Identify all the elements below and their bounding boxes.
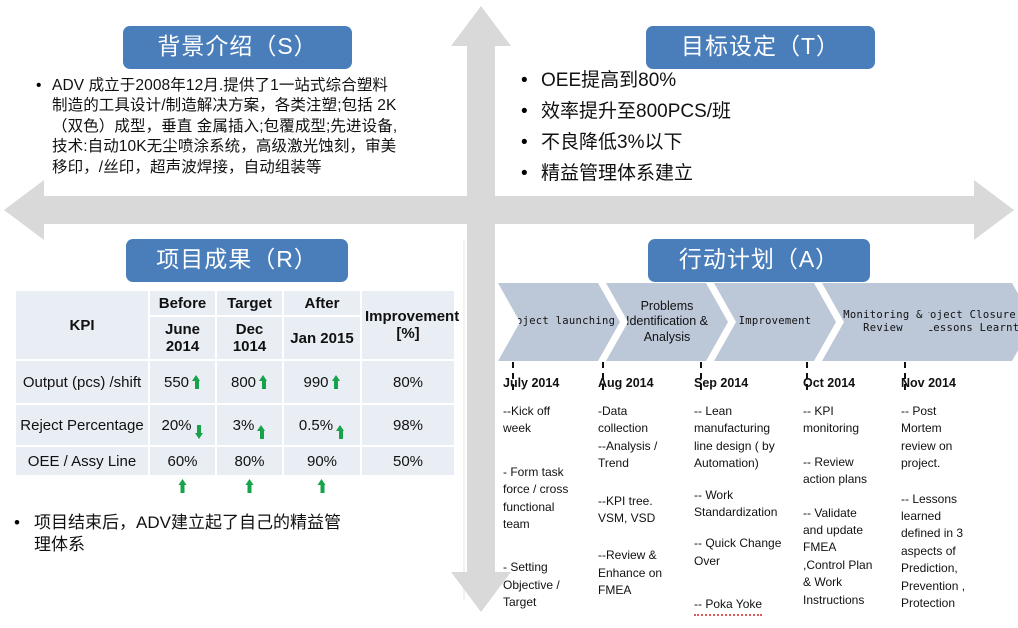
cell-value: 800 [231,374,256,391]
cell-reject-after: 0.5% [283,404,361,446]
str-slide-canvas: 背景介绍（S） • ADV 成立于2008年12月.提供了1一站式综合塑料 制造… [0,0,1018,618]
timeline-date-oct: Oct 2014 [803,376,855,390]
cell-oee-after: 90% [283,446,361,476]
row-label-reject: Reject Percentage [15,404,149,446]
up-arrow-icon [259,375,268,389]
chevron-label: Improvement [735,315,816,328]
timeline-item: -- Lean manufacturing line design ( by A… [694,403,798,473]
table-header-target: Target [216,290,283,316]
badge-action: 行动计划（A） [648,239,870,282]
cell-reject-improvement: 98% [361,404,455,446]
timeline-item: --KPI tree. VSM, VSD [598,493,690,528]
up-arrow-icon [245,479,254,493]
timeline-item: -- Review action plans [803,454,899,489]
timeline-item: -Data collection --Analysis / Trend [598,403,690,473]
timeline-column-oct: -- KPI monitoring -- Review action plans… [803,403,899,621]
cell-oee-improvement: 50% [361,446,455,476]
timeline-date-aug: Aug 2014 [598,376,654,390]
timeline-column-july: --Kick off week - Form task force / cros… [503,403,595,624]
timeline-item: -- Validate and update FMEA ,Control Pla… [803,505,899,609]
table-header-row-top: KPI Before Target After Improvement [%] [15,290,455,316]
list-item: • ADV 成立于2008年12月.提供了1一站式综合塑料 制造的工具设计/制造… [36,76,448,178]
row-label-oee: OEE / Assy Line [15,446,149,476]
target-bullet-list: • OEE提高到80% • 效率提升至800PCS/班 • 不良降低3%以下 •… [521,68,941,192]
list-item: • 不良降低3%以下 [521,130,941,155]
table-row: Reject Percentage 20% 3% 0.5% 98% [15,404,455,446]
target-bullet-text-3: 精益管理体系建立 [541,161,941,186]
cell-value: 3% [233,417,255,434]
cell-reject-before: 20% [149,404,216,446]
result-note-list: • 项目结束后，ADV建立起了自己的精益管 理体系 [14,512,434,557]
target-bullet-text-0: OEE提高到80% [541,68,941,93]
up-arrow-icon [336,425,345,439]
timeline-item: --Kick off week [503,403,595,438]
timeline-item: --Review & Enhance on FMEA [598,547,690,599]
timeline-date-july: July 2014 [503,376,559,390]
target-bullet-text-1: 效率提升至800PCS/班 [541,99,941,124]
process-chevron-group: Project launching Problems Identificatio… [498,283,1014,361]
bullet-marker: • [521,130,541,155]
timeline-item: -- Lessons learned defined in 3 aspects … [901,491,1001,613]
kpi-results-table: KPI Before Target After Improvement [%] … [14,289,456,477]
timeline-item: - Setting Objective / Target [503,559,595,611]
table-header-before: Before [149,290,216,316]
target-bullet-text-2: 不良降低3%以下 [541,130,941,155]
cell-output-improvement: 80% [361,360,455,404]
table-row: Output (pcs) /shift 550 800 990 80% [15,360,455,404]
list-item: • 项目结束后，ADV建立起了自己的精益管 理体系 [14,512,434,557]
table-header-after: After [283,290,361,316]
badge-situation: 背景介绍（S） [123,26,352,69]
timeline-item: -- Poka Yoke [694,596,762,615]
chevron-phase-3: Improvement [714,283,836,361]
chevron-label: Project launching [499,315,620,328]
list-item: • 精益管理体系建立 [521,161,941,186]
table-subheader-target-date: Dec 1014 [216,316,283,360]
bullet-marker: • [36,76,52,96]
result-note-text: 项目结束后，ADV建立起了自己的精益管 理体系 [34,512,434,557]
cell-output-before: 550 [149,360,216,404]
down-arrow-icon [195,425,204,439]
up-arrow-icon [178,479,187,493]
situation-bullet-list: • ADV 成立于2008年12月.提供了1一站式综合塑料 制造的工具设计/制造… [36,76,448,178]
cell-value: 990 [303,374,328,391]
table-header-improvement: Improvement [%] [361,290,455,360]
bullet-marker: • [521,99,541,124]
cell-reject-target: 3% [216,404,283,446]
table-header-kpi: KPI [15,290,149,360]
badge-target: 目标设定（T） [646,26,875,69]
cell-value: 0.5% [299,417,333,434]
timeline-date-sep: Sep 2014 [694,376,748,390]
up-arrow-icon [332,375,341,389]
bullet-marker: • [521,161,541,186]
cell-oee-target: 80% [216,446,283,476]
timeline-column-aug: -Data collection --Analysis / Trend --KP… [598,403,690,612]
chevron-phase-1: Project launching [498,283,620,361]
chevron-label: Problems Identification & Analysis [606,299,728,346]
chevron-phase-2: Problems Identification & Analysis [606,283,728,361]
cell-value: 20% [161,417,191,434]
list-item: • OEE提高到80% [521,68,941,93]
cell-value: 90% [307,453,337,470]
list-item: • 效率提升至800PCS/班 [521,99,941,124]
table-subheader-after-date: Jan 2015 [283,316,361,360]
up-arrow-icon [192,375,201,389]
bullet-marker: • [14,512,34,534]
badge-result: 项目成果（R） [126,239,348,282]
timeline-item: -- KPI monitoring [803,403,899,438]
timeline-column-nov: -- Post Mortem review on project. -- Les… [901,403,1001,624]
cell-value: 550 [164,374,189,391]
bullet-marker: • [521,68,541,93]
timeline-item: -- Work Standardization [694,487,798,522]
cell-output-after: 990 [283,360,361,404]
table-subheader-before-date: June 2014 [149,316,216,360]
timeline-item: -- Quick Change Over [694,535,798,570]
up-arrow-icon [257,425,266,439]
cell-value: 60% [167,453,197,470]
cell-output-target: 800 [216,360,283,404]
cell-value: 80% [234,453,264,470]
timeline-item: - Form task force / cross functional tea… [503,464,595,534]
up-arrow-icon [318,479,327,493]
situation-bullet-text-0: ADV 成立于2008年12月.提供了1一站式综合塑料 制造的工具设计/制造解决… [52,76,448,178]
chevron-label: Monitoring & Review [822,309,944,335]
cell-oee-before: 60% [149,446,216,476]
timeline-date-nov: Nov 2014 [901,376,956,390]
table-row: OEE / Assy Line 60% 80% 90% 50% [15,446,455,476]
row-label-output: Output (pcs) /shift [15,360,149,404]
timeline-column-sep: -- Lean manufacturing line design ( by A… [694,403,798,628]
timeline-item: -- Post Mortem review on project. [901,403,1001,473]
